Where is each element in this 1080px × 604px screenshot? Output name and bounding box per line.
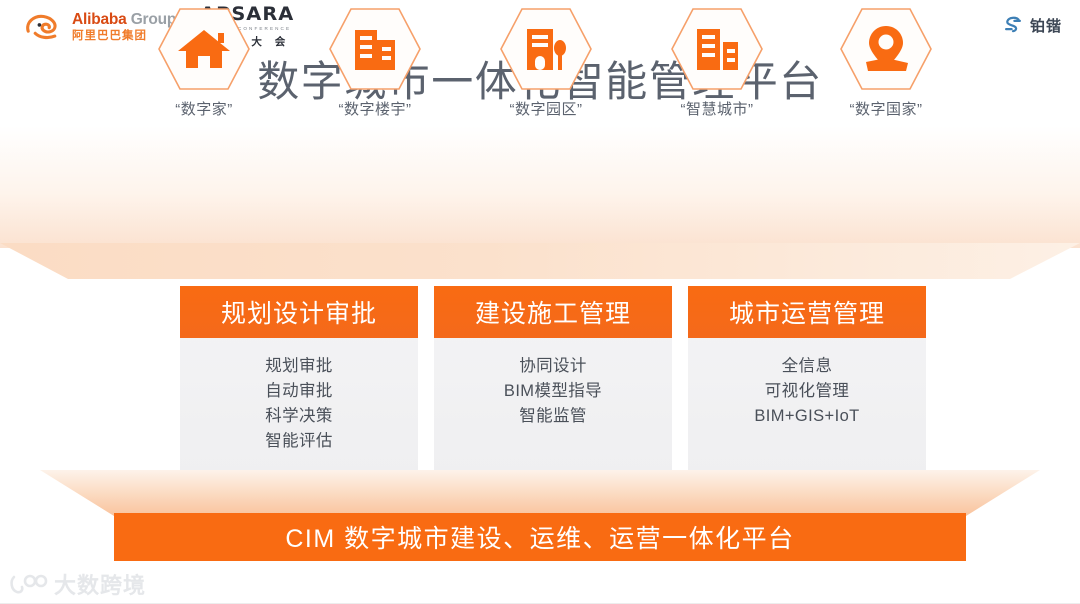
upper-platform-slab: [0, 243, 1080, 279]
card-title: 建设施工管理: [434, 286, 672, 338]
card-item: 可视化管理: [688, 379, 926, 404]
hex-frame-map-pin: [838, 6, 934, 92]
bottom-platform-banner[interactable]: CIM 数字城市建设、运维、运营一体化平台: [114, 513, 966, 561]
icon-cell-office-building[interactable]: “数字楼宇”: [295, 6, 455, 119]
hex-frame-park-campus: [498, 6, 594, 92]
banner-text: CIM 数字城市建设、运维、运营一体化平台: [285, 519, 794, 555]
card-title: 城市运营管理: [688, 286, 926, 338]
card-item: 科学决策: [180, 404, 418, 429]
icon-label: “数字家”: [124, 98, 284, 119]
card-item: 规划审批: [180, 354, 418, 379]
card-item: 智能监管: [434, 404, 672, 429]
hex-frame-office-building: [327, 6, 423, 92]
icon-label: “智慧城市”: [637, 98, 797, 119]
card-construction-management[interactable]: 建设施工管理 协同设计 BIM模型指导 智能监管: [434, 286, 672, 478]
icon-cell-map-pin[interactable]: “数字国家”: [806, 6, 966, 119]
card-item: BIM+GIS+IoT: [688, 404, 926, 429]
hex-frame-city-buildings: [669, 6, 765, 92]
card-item: 智能评估: [180, 429, 418, 454]
card-body: 全信息 可视化管理 BIM+GIS+IoT: [688, 338, 926, 429]
dashu-kuajing-logo-icon: [8, 571, 48, 597]
card-body: 规划审批 自动审批 科学决策 智能评估: [180, 338, 418, 454]
slide-canvas: Alibaba Group 阿里巴巴集团 APSARA APSARA CONFE…: [0, 0, 1080, 604]
card-title: 规划设计审批: [180, 286, 418, 338]
card-item: 自动审批: [180, 379, 418, 404]
icon-label: “数字楼宇”: [295, 98, 455, 119]
card-body: 协同设计 BIM模型指导 智能监管: [434, 338, 672, 429]
icon-cell-park-campus[interactable]: “数字园区”: [466, 6, 626, 119]
icon-cell-city-buildings[interactable]: “智慧城市”: [637, 6, 797, 119]
icon-label: “数字园区”: [466, 98, 626, 119]
icon-label: “数字国家”: [806, 98, 966, 119]
watermark: 大数跨境: [8, 568, 146, 600]
icon-cell-home[interactable]: “数字家”: [124, 6, 284, 119]
card-item: 全信息: [688, 354, 926, 379]
card-planning-approval[interactable]: 规划设计审批 规划审批 自动审批 科学决策 智能评估: [180, 286, 418, 478]
cards-row: 规划设计审批 规划审批 自动审批 科学决策 智能评估 建设施工管理 协同设计 B…: [0, 286, 1080, 478]
card-city-operation-management[interactable]: 城市运营管理 全信息 可视化管理 BIM+GIS+IoT: [688, 286, 926, 478]
icon-band-background: [0, 126, 1080, 248]
watermark-text: 大数跨境: [54, 568, 146, 600]
hex-frame-home: [156, 6, 252, 92]
lower-platform-slab: [0, 470, 1080, 516]
card-item: 协同设计: [434, 354, 672, 379]
card-item: BIM模型指导: [434, 379, 672, 404]
icon-row: “数字家” “数字楼宇”: [0, 0, 1080, 122]
